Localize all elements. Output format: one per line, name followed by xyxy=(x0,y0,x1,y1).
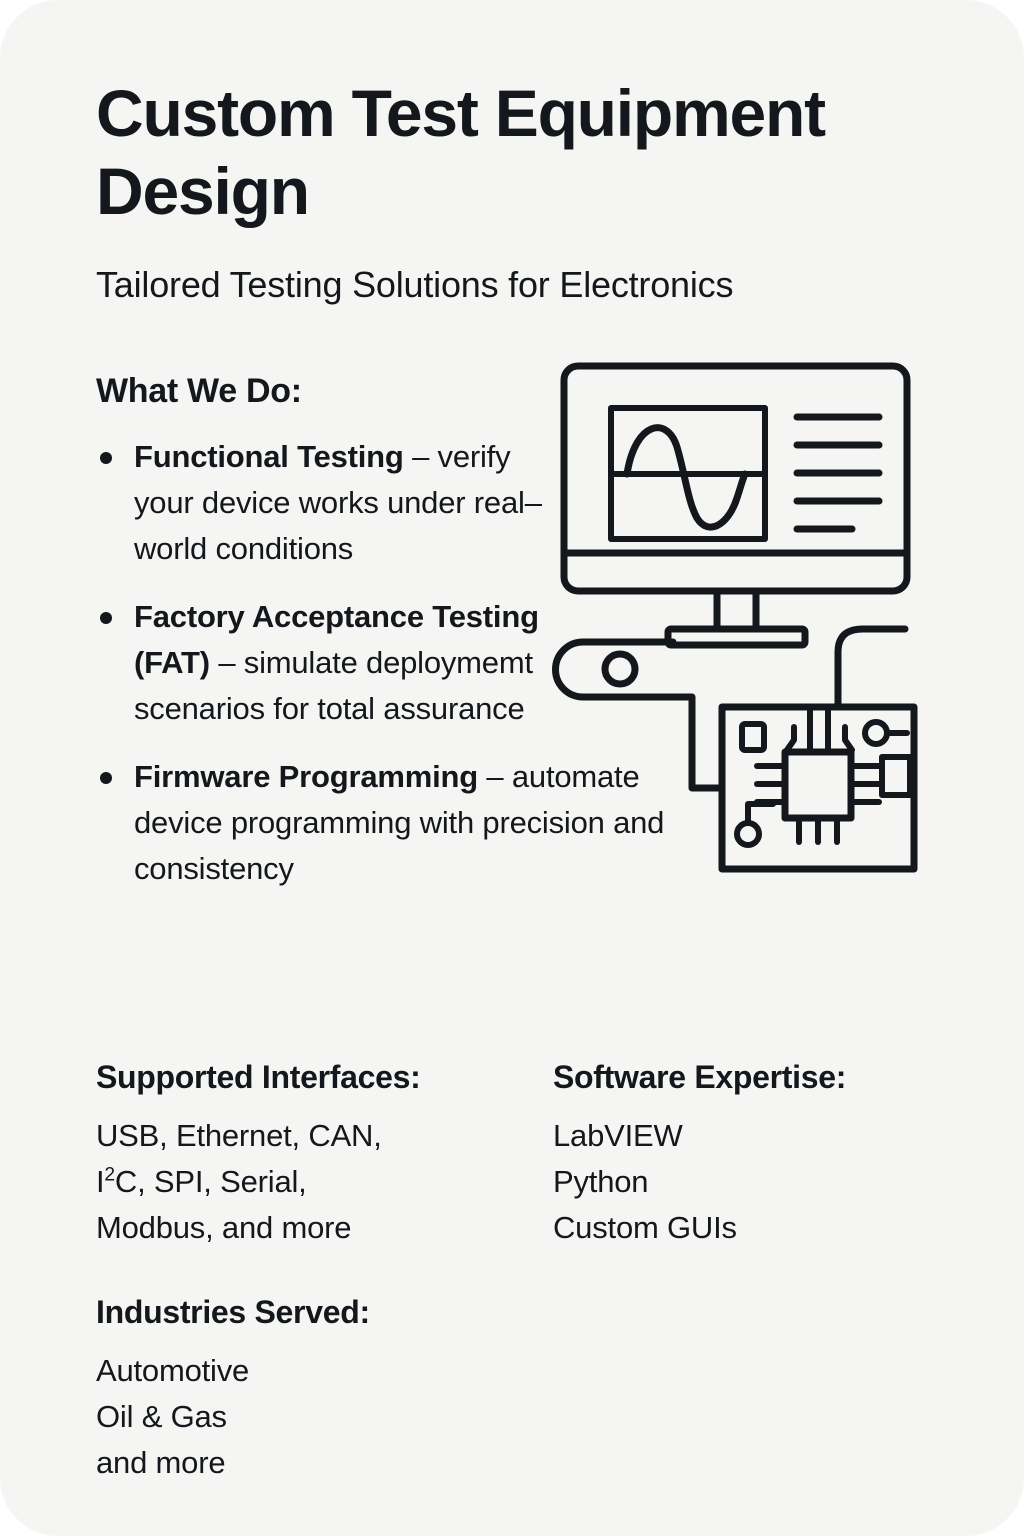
software-expertise-block: Software Expertise: LabVIEW Python Custo… xyxy=(553,1057,953,1251)
industries-served-heading: Industries Served: xyxy=(96,1292,546,1332)
board-via-pad xyxy=(737,823,759,845)
bullet-icon xyxy=(100,612,112,624)
industries-served-body: Automotive Oil & Gas and more xyxy=(96,1348,546,1486)
software-expertise-heading: Software Expertise: xyxy=(553,1057,953,1097)
oscilloscope-waveform xyxy=(627,428,745,527)
industry-item: and more xyxy=(96,1440,546,1486)
software-item: Python xyxy=(553,1159,953,1205)
interfaces-line: I2C, SPI, Serial, xyxy=(96,1159,546,1205)
page-subtitle: Tailored Testing Solutions for Electroni… xyxy=(96,262,956,308)
service-dash: – xyxy=(210,645,244,680)
software-item: Custom GUIs xyxy=(553,1205,953,1251)
page-title: Custom Test Equipment Design xyxy=(96,74,956,230)
list-item: Factory Acceptance Testing (FAT) – simul… xyxy=(96,594,544,732)
industries-served-block: Industries Served: Automotive Oil & Gas … xyxy=(96,1292,546,1486)
service-term: Functional Testing xyxy=(134,439,404,474)
info-card: Custom Test Equipment Design Tailored Te… xyxy=(0,0,1024,1536)
service-term: Firmware Programming xyxy=(134,759,478,794)
service-dash: – xyxy=(478,759,512,794)
industry-item: Oil & Gas xyxy=(96,1394,546,1440)
board-component-square xyxy=(742,724,764,750)
monitor-screen xyxy=(564,366,907,591)
i2c-superscript: 2 xyxy=(104,1165,114,1186)
i2c-suffix: C, SPI, Serial, xyxy=(115,1164,307,1199)
interfaces-line: USB, Ethernet, CAN, xyxy=(96,1113,546,1159)
card-content: Custom Test Equipment Design Tailored Te… xyxy=(96,0,956,1536)
board-connector-circle xyxy=(865,722,887,744)
bracket-hole xyxy=(605,654,635,684)
test-equipment-illustration xyxy=(545,352,935,882)
service-dash: – xyxy=(404,439,438,474)
bullet-icon xyxy=(100,452,112,464)
mounting-bracket xyxy=(556,642,723,788)
list-item: Functional Testing – verify your device … xyxy=(96,434,544,572)
bullet-icon xyxy=(100,772,112,784)
microchip xyxy=(785,752,851,818)
chip-trace xyxy=(787,727,794,750)
industry-item: Automotive xyxy=(96,1348,546,1394)
supported-interfaces-block: Supported Interfaces: USB, Ethernet, CAN… xyxy=(96,1057,546,1251)
board-trace xyxy=(748,804,773,823)
interfaces-line: Modbus, and more xyxy=(96,1205,546,1251)
supported-interfaces-body: USB, Ethernet, CAN, I2C, SPI, Serial, Mo… xyxy=(96,1113,546,1251)
supported-interfaces-heading: Supported Interfaces: xyxy=(96,1057,546,1097)
monitor-stand-base xyxy=(668,629,805,645)
chip-trace xyxy=(845,727,852,750)
what-we-do-heading: What We Do: xyxy=(96,370,302,412)
board-component-rect xyxy=(882,757,910,795)
cable xyxy=(838,629,905,707)
software-expertise-body: LabVIEW Python Custom GUIs xyxy=(553,1113,953,1251)
software-item: LabVIEW xyxy=(553,1113,953,1159)
